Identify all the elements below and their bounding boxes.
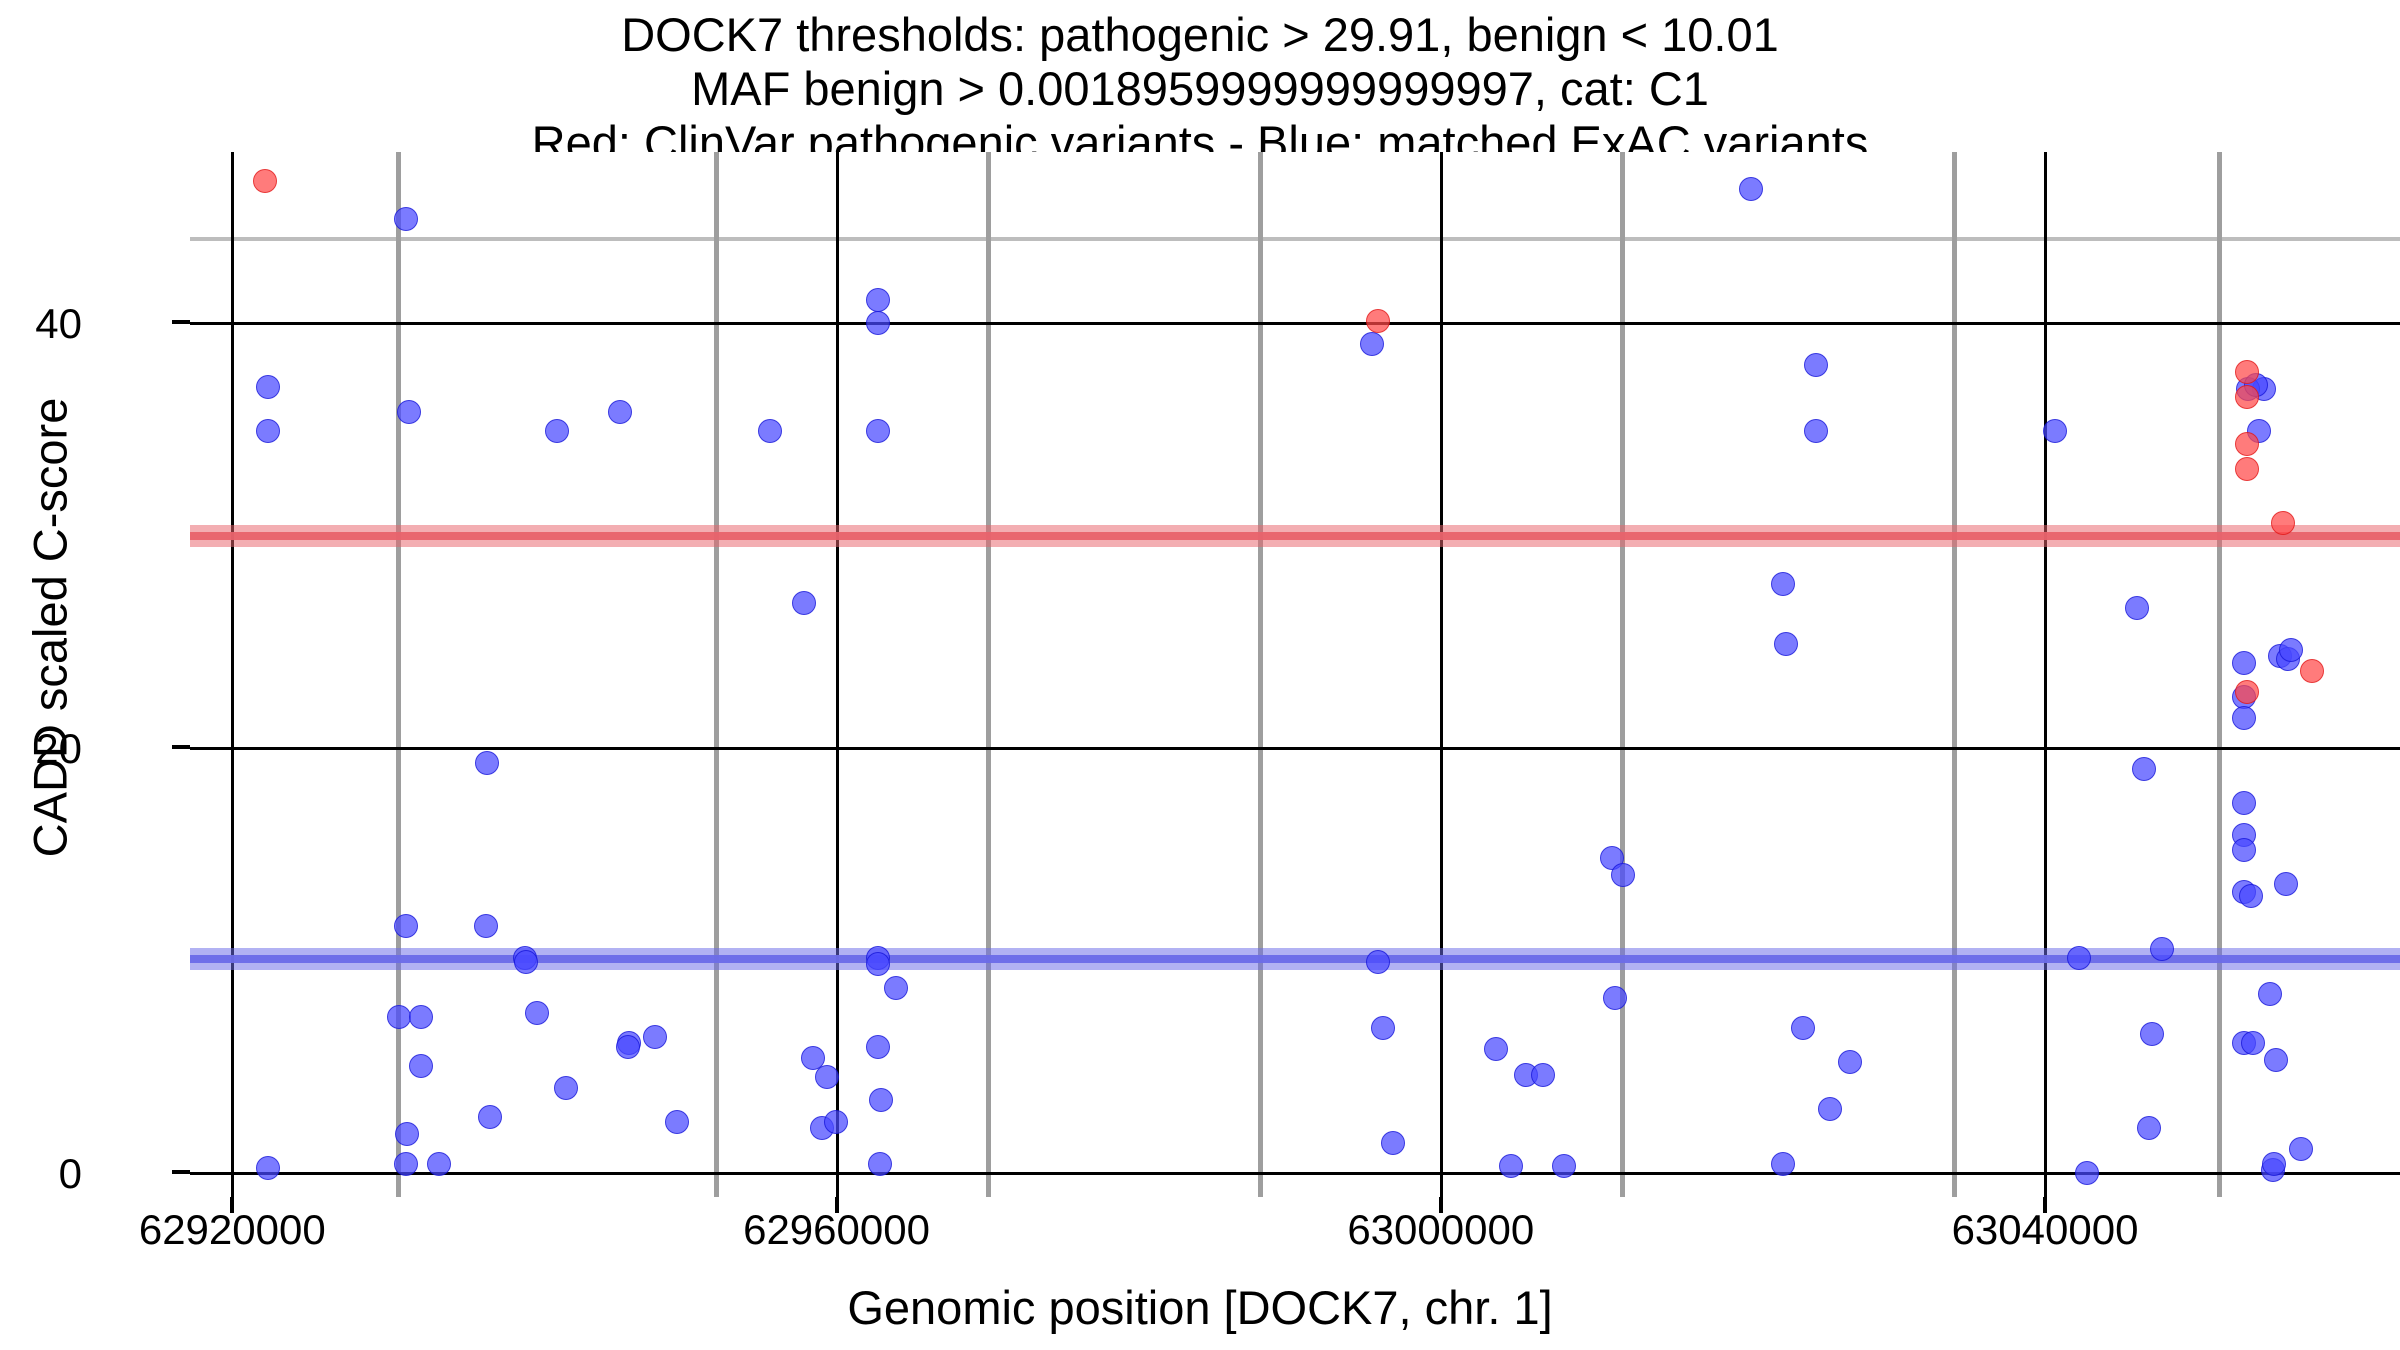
data-point-exac: [1771, 1152, 1795, 1176]
data-point-exac: [2258, 982, 2282, 1006]
y-axis-line: [190, 747, 2400, 750]
data-point-exac: [427, 1152, 451, 1176]
data-point-exac: [397, 400, 421, 424]
data-point-exac: [475, 751, 499, 775]
data-point-exac: [866, 1035, 890, 1059]
data-point-exac: [2232, 706, 2256, 730]
data-point-pathogenic: [1366, 309, 1390, 333]
data-point-pathogenic: [2300, 659, 2324, 683]
title-line-1: DOCK7 thresholds: pathogenic > 29.91, be…: [0, 8, 2400, 62]
data-point-exac: [824, 1110, 848, 1134]
y-tick-label: 40: [35, 300, 82, 348]
data-point-exac: [866, 419, 890, 443]
data-point-exac: [525, 1001, 549, 1025]
x-tick-label: 63040000: [1952, 1206, 2139, 1254]
data-point-pathogenic: [2271, 511, 2295, 535]
data-point-exac: [1360, 332, 1384, 356]
data-point-exac: [866, 311, 890, 335]
data-point-exac: [409, 1054, 433, 1078]
data-point-exac: [815, 1065, 839, 1089]
data-point-exac: [643, 1025, 667, 1049]
data-point-exac: [256, 375, 280, 399]
x-tick-mark: [2043, 1197, 2047, 1213]
data-point-exac: [1603, 986, 1627, 1010]
title-line-2: MAF benign > 0.0018959999999999997, cat:…: [0, 62, 2400, 116]
data-point-exac: [2274, 872, 2298, 896]
data-point-exac: [1484, 1037, 1508, 1061]
data-point-pathogenic: [2235, 680, 2259, 704]
chart-title: DOCK7 thresholds: pathogenic > 29.91, be…: [0, 8, 2400, 170]
data-point-exac: [545, 419, 569, 443]
y-tick-label: 0: [59, 1150, 82, 1198]
data-point-exac: [758, 419, 782, 443]
exon-gridline: [396, 152, 401, 1197]
data-point-exac: [2150, 937, 2174, 961]
data-point-exac: [1804, 353, 1828, 377]
y-tick-mark: [172, 745, 190, 749]
chart-root: DOCK7 thresholds: pathogenic > 29.91, be…: [0, 0, 2400, 1350]
data-point-exac: [1818, 1097, 1842, 1121]
x-axis-line: [2044, 152, 2047, 1197]
exon-gridline: [1952, 152, 1957, 1197]
data-point-exac: [866, 288, 890, 312]
x-axis-line: [231, 152, 234, 1197]
data-point-pathogenic: [2235, 457, 2259, 481]
data-point-exac: [1531, 1063, 1555, 1087]
data-point-pathogenic: [2235, 360, 2259, 384]
data-point-exac: [1739, 177, 1763, 201]
x-axis-line: [836, 152, 839, 1197]
data-point-exac: [554, 1076, 578, 1100]
exon-gridline: [1258, 152, 1263, 1197]
data-point-exac: [2067, 946, 2091, 970]
data-point-exac: [1771, 572, 1795, 596]
data-point-exac: [395, 1122, 419, 1146]
data-point-pathogenic: [2235, 385, 2259, 409]
threshold-line-pathogenic: [190, 525, 2400, 547]
data-point-exac: [608, 400, 632, 424]
data-point-pathogenic: [253, 169, 277, 193]
x-axis-label: Genomic position [DOCK7, chr. 1]: [0, 1280, 2400, 1335]
data-point-exac: [1774, 632, 1798, 656]
y-tick-label: 20: [35, 725, 82, 773]
data-point-exac: [2232, 791, 2256, 815]
data-point-exac: [2289, 1137, 2313, 1161]
x-axis-line: [1440, 152, 1443, 1197]
horizontal-gridline: [190, 237, 2400, 241]
y-axis-label: CADD scaled C-score: [23, 248, 78, 1008]
data-point-exac: [2232, 651, 2256, 675]
y-axis-line: [190, 1172, 2400, 1175]
data-point-exac: [514, 950, 538, 974]
data-point-exac: [474, 914, 498, 938]
data-point-exac: [1838, 1050, 1862, 1074]
data-point-exac: [866, 952, 890, 976]
data-point-exac: [792, 591, 816, 615]
data-point-pathogenic: [2235, 432, 2259, 456]
data-point-exac: [2264, 1048, 2288, 1072]
data-point-exac: [869, 1088, 893, 1112]
data-point-exac: [616, 1035, 640, 1059]
x-tick-label: 63000000: [1347, 1206, 1534, 1254]
data-point-exac: [2075, 1161, 2099, 1185]
x-tick-label: 62920000: [139, 1206, 326, 1254]
data-point-exac: [1791, 1016, 1815, 1040]
data-point-exac: [884, 976, 908, 1000]
data-point-exac: [1804, 419, 1828, 443]
data-point-exac: [2232, 838, 2256, 862]
data-point-exac: [1381, 1131, 1405, 1155]
data-point-exac: [2043, 419, 2067, 443]
data-point-exac: [1366, 950, 1390, 974]
exon-gridline: [714, 152, 719, 1197]
data-point-exac: [394, 207, 418, 231]
data-point-exac: [2241, 1031, 2265, 1055]
x-tick-mark: [230, 1197, 234, 1213]
data-point-exac: [2279, 638, 2303, 662]
data-point-exac: [394, 914, 418, 938]
data-point-exac: [868, 1152, 892, 1176]
data-point-exac: [2140, 1022, 2164, 1046]
y-tick-mark: [172, 320, 190, 324]
data-point-exac: [256, 1156, 280, 1180]
data-point-exac: [2132, 757, 2156, 781]
y-axis-line: [190, 322, 2400, 325]
exon-gridline: [986, 152, 991, 1197]
data-point-exac: [2137, 1116, 2161, 1140]
data-point-exac: [665, 1110, 689, 1134]
x-tick-label: 62960000: [743, 1206, 930, 1254]
data-point-exac: [394, 1152, 418, 1176]
data-point-exac: [256, 419, 280, 443]
data-point-exac: [2239, 884, 2263, 908]
data-point-exac: [1499, 1154, 1523, 1178]
data-point-exac: [2262, 1152, 2286, 1176]
x-tick-mark: [835, 1197, 839, 1213]
data-point-exac: [1611, 863, 1635, 887]
data-point-exac: [1552, 1154, 1576, 1178]
exon-gridline: [2217, 152, 2222, 1197]
exon-gridline: [1620, 152, 1625, 1197]
y-tick-mark: [172, 1170, 190, 1174]
data-point-exac: [478, 1105, 502, 1129]
plot-area: [190, 152, 2400, 1197]
x-tick-mark: [1439, 1197, 1443, 1213]
data-point-exac: [1371, 1016, 1395, 1040]
data-point-exac: [409, 1005, 433, 1029]
data-point-exac: [2125, 596, 2149, 620]
